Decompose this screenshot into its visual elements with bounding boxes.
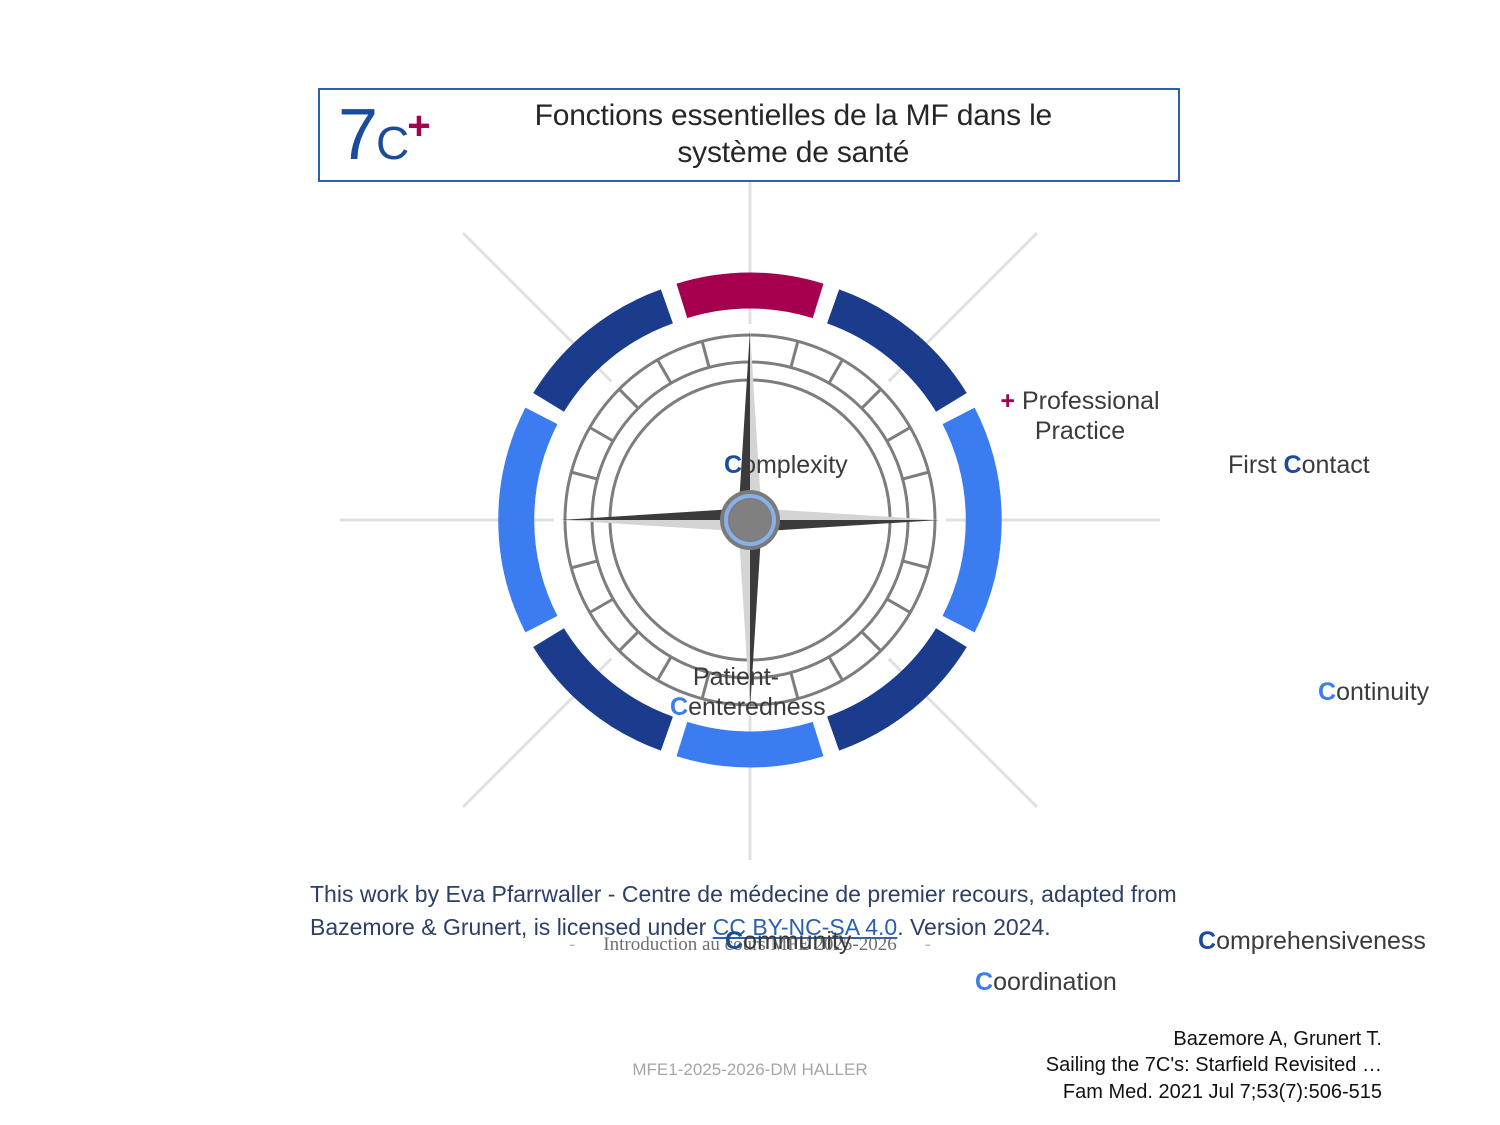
- ring-segment-coordination[interactable]: [682, 739, 818, 749]
- label-coordination: Coordination: [975, 967, 1117, 997]
- seven-c-plus-logo: 7C+: [320, 99, 439, 171]
- continuity-initial: C: [1318, 678, 1336, 706]
- professional-practice-line-1: Professional: [1022, 387, 1160, 415]
- community-text: ommunity: [743, 927, 851, 955]
- title-banner: 7C+ Fonctions essentielles de la MF dans…: [318, 88, 1180, 182]
- coordination-initial: C: [975, 968, 993, 996]
- title-line-1: Fonctions essentielles de la MF dans le: [439, 98, 1148, 135]
- compass-svg: [300, 170, 1200, 860]
- page-title: Fonctions essentielles de la MF dans le …: [439, 98, 1178, 171]
- first-contact-initial: C: [1284, 451, 1302, 479]
- label-community: Community: [725, 926, 851, 956]
- subline-tick-left: -: [541, 934, 603, 955]
- first-contact-prefix: First: [1228, 451, 1284, 479]
- comprehensiveness-text: omprehensiveness: [1216, 927, 1426, 955]
- label-patient-centeredness: Patient-Centeredness: [670, 662, 802, 722]
- complexity-text: omplexity: [742, 451, 848, 479]
- community-initial: C: [725, 927, 743, 955]
- comprehensiveness-initial: C: [1198, 927, 1216, 955]
- title-line-2: système de santé: [439, 135, 1148, 172]
- rose-hub-inner: [729, 499, 771, 541]
- first-contact-text: ontact: [1302, 451, 1370, 479]
- continuity-text: ontinuity: [1336, 678, 1429, 706]
- label-continuity: Continuity: [1318, 677, 1429, 707]
- subline-tick-right: -: [897, 934, 959, 955]
- citation-line-3: Fam Med. 2021 Jul 7;53(7):506-515: [1046, 1079, 1382, 1105]
- citation-line-1: Bazemore A, Grunert T.: [1046, 1026, 1382, 1052]
- label-professional-practice: + Professional Practice: [965, 386, 1195, 446]
- patient-centeredness-line-1: Patient-: [693, 663, 779, 691]
- label-comprehensiveness: Comprehensiveness: [1198, 926, 1426, 956]
- compass-diagram: + Professional Practice Complexity First…: [300, 170, 1200, 860]
- coordination-text: oordination: [993, 968, 1117, 996]
- patient-centeredness-initial: C: [670, 693, 688, 721]
- citation-block: Bazemore A, Grunert T. Sailing the 7C's:…: [1046, 1026, 1382, 1105]
- complexity-initial: C: [724, 451, 742, 479]
- professional-practice-plus-icon: +: [1000, 387, 1015, 415]
- ring-segment-professional-practice[interactable]: [682, 290, 818, 300]
- citation-line-2: Sailing the 7C's: Starfield Revisited …: [1046, 1052, 1382, 1078]
- logo-c: C: [376, 117, 409, 169]
- label-complexity: Complexity: [724, 450, 848, 480]
- logo-seven: 7: [338, 95, 376, 175]
- patient-centeredness-text: enteredness: [688, 693, 826, 721]
- logo-plus-icon: +: [407, 104, 430, 148]
- label-first-contact: First Contact: [1228, 450, 1370, 480]
- professional-practice-line-2: Practice: [1035, 417, 1125, 445]
